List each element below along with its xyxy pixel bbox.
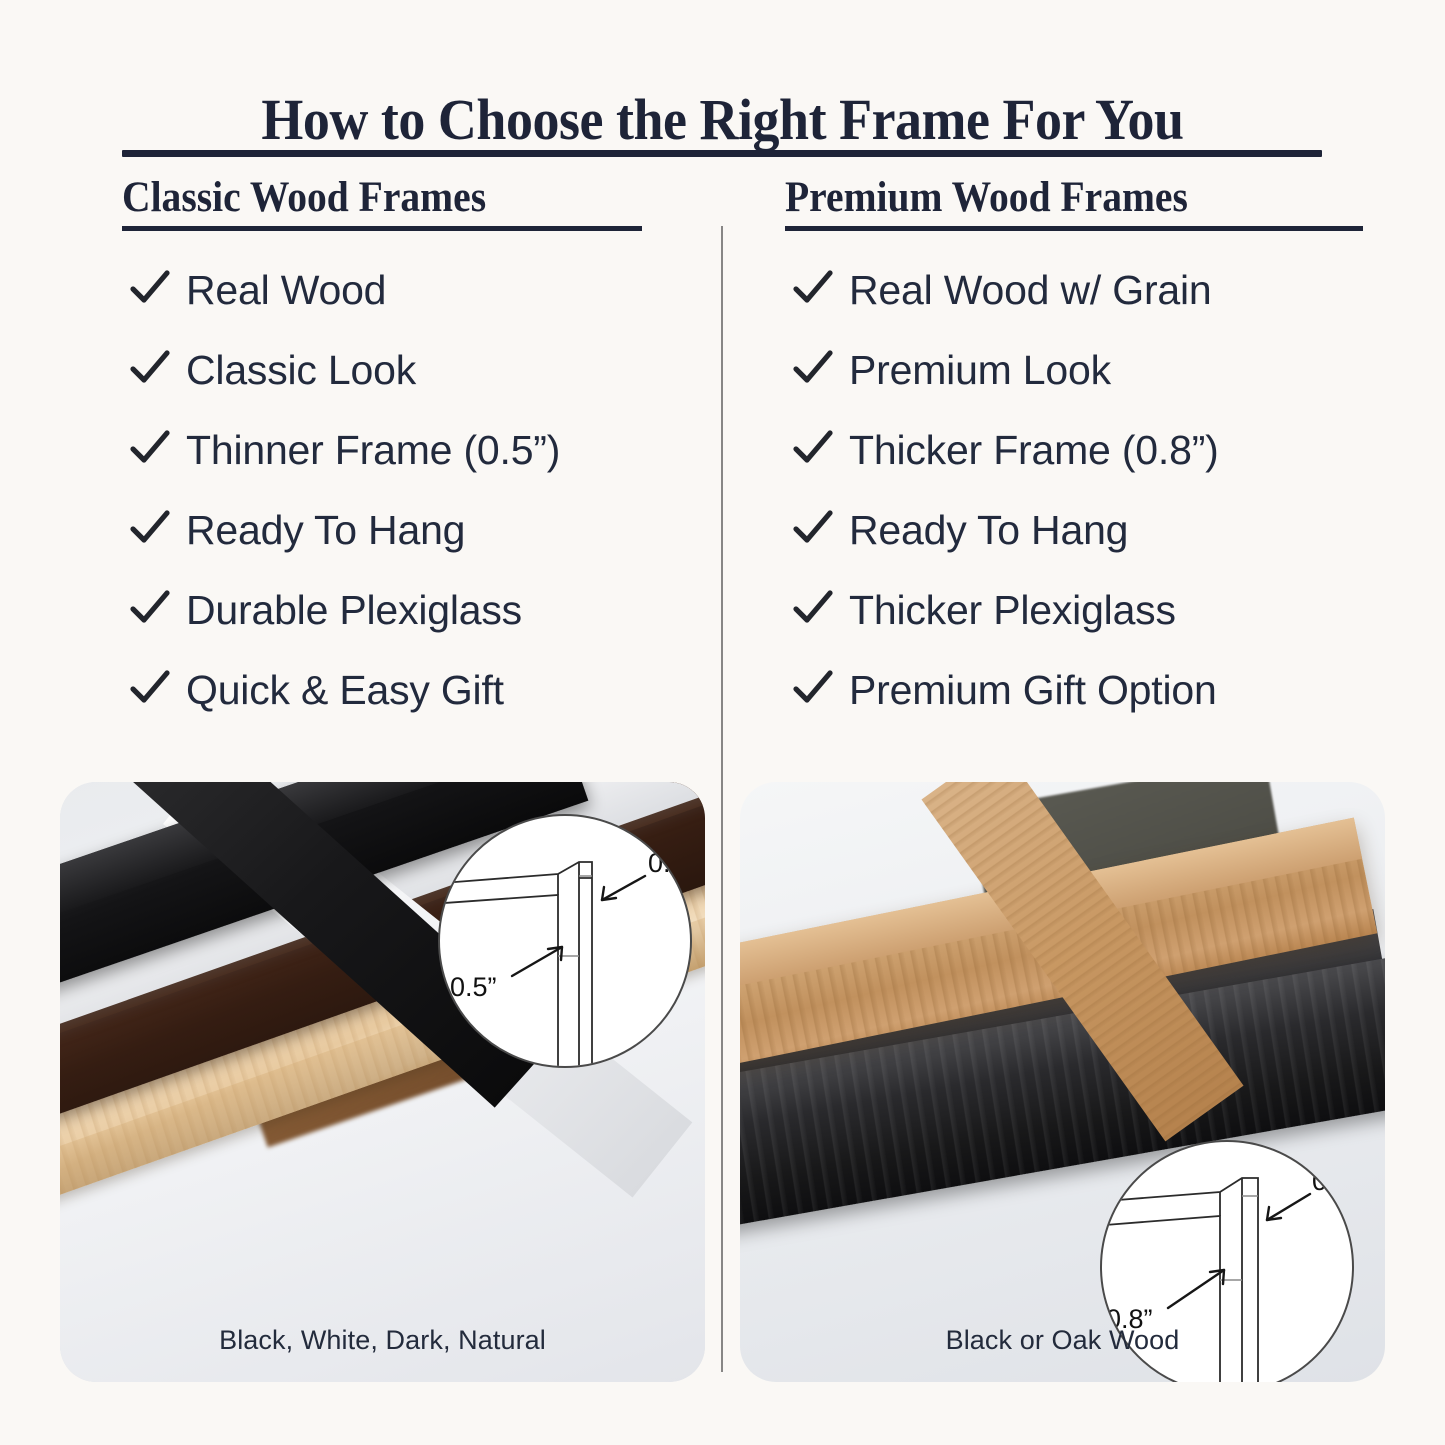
check-icon: [791, 346, 835, 390]
feature-item: Ready To Hang: [128, 490, 698, 570]
feature-item: Real Wood w/ Grain: [791, 250, 1391, 330]
frame-corner-drawing: 0.75” 0.5”: [440, 816, 690, 1066]
width-label: 0.5”: [450, 972, 497, 1002]
check-icon: [791, 666, 835, 710]
column-heading-premium: Premium Wood Frames: [785, 173, 1188, 222]
feature-label: Quick & Easy Gift: [186, 667, 504, 714]
column-heading-underline-premium: [785, 226, 1363, 231]
feature-label: Thicker Frame (0.8”): [849, 427, 1219, 474]
column-divider: [721, 226, 723, 1372]
frame-profile-diagram-classic: 0.75” 0.5”: [438, 814, 692, 1068]
feature-label: Thinner Frame (0.5”): [186, 427, 560, 474]
feature-label: Real Wood: [186, 267, 386, 314]
feature-label: Ready To Hang: [849, 507, 1128, 554]
feature-item: Thicker Plexiglass: [791, 570, 1391, 650]
feature-label: Classic Look: [186, 347, 416, 394]
feature-item: Premium Gift Option: [791, 650, 1391, 730]
check-icon: [128, 346, 172, 390]
premium-frames-photo: 0.8” 0.8”: [740, 782, 1385, 1382]
check-icon: [128, 506, 172, 550]
feature-list-premium: Real Wood w/ Grain Premium Look Thicker …: [791, 250, 1391, 730]
page-title: How to Choose the Right Frame For You: [51, 86, 1395, 153]
check-icon: [128, 586, 172, 630]
infographic-page: How to Choose the Right Frame For You Cl…: [0, 0, 1445, 1445]
check-icon: [791, 506, 835, 550]
classic-frames-photo: 0.75” 0.5”: [60, 782, 705, 1382]
feature-label: Ready To Hang: [186, 507, 465, 554]
depth-label: 0.8”: [1312, 1166, 1352, 1196]
feature-item: Durable Plexiglass: [128, 570, 698, 650]
photo-caption: Black or Oak Wood: [740, 1325, 1385, 1356]
feature-label: Premium Look: [849, 347, 1111, 394]
photo-caption: Black, White, Dark, Natural: [60, 1325, 705, 1356]
feature-label: Durable Plexiglass: [186, 587, 522, 634]
check-icon: [791, 426, 835, 470]
feature-label: Thicker Plexiglass: [849, 587, 1176, 634]
column-heading-underline-classic: [122, 226, 642, 231]
feature-label: Real Wood w/ Grain: [849, 267, 1212, 314]
feature-item: Ready To Hang: [791, 490, 1391, 570]
check-icon: [128, 426, 172, 470]
check-icon: [128, 666, 172, 710]
feature-list-classic: Real Wood Classic Look Thinner Frame (0.…: [128, 250, 698, 730]
feature-item: Thicker Frame (0.8”): [791, 410, 1391, 490]
title-underline: [122, 150, 1322, 157]
check-icon: [791, 266, 835, 310]
column-heading-classic: Classic Wood Frames: [122, 173, 486, 222]
feature-item: Premium Look: [791, 330, 1391, 410]
photo-panel-classic: 0.75” 0.5” Black, White, Dark, Natural: [60, 782, 705, 1382]
check-icon: [128, 266, 172, 310]
feature-item: Classic Look: [128, 330, 698, 410]
feature-item: Quick & Easy Gift: [128, 650, 698, 730]
feature-item: Thinner Frame (0.5”): [128, 410, 698, 490]
check-icon: [791, 586, 835, 630]
photo-panel-premium: 0.8” 0.8” Black or Oak Wood: [740, 782, 1385, 1382]
feature-item: Real Wood: [128, 250, 698, 330]
feature-label: Premium Gift Option: [849, 667, 1217, 714]
